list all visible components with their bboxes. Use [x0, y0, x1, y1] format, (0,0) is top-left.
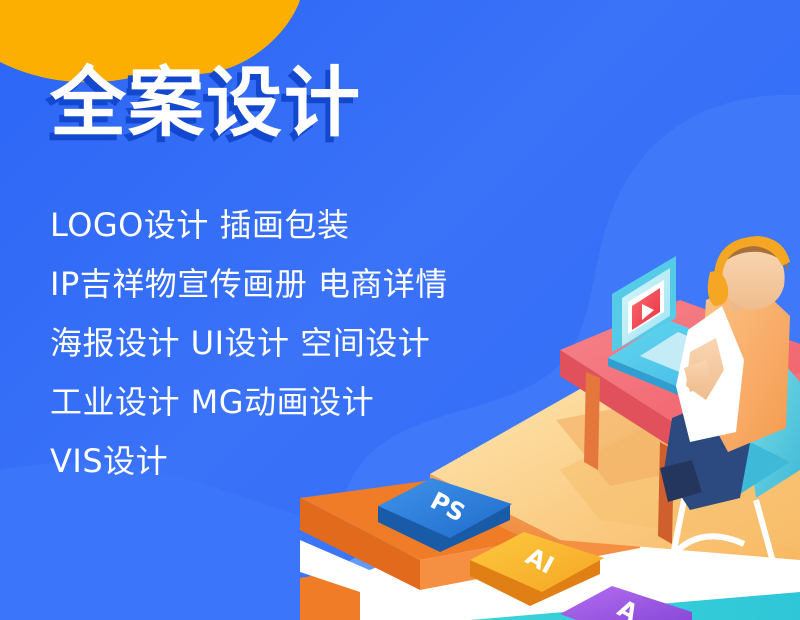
desk-leg-front: [584, 372, 600, 470]
poster-canvas: 全案设计 LOGO设计 插画包装 IP吉祥物宣传画册 电商详情 海报设计 UI设…: [0, 0, 800, 620]
isometric-illustration: PS AI A: [0, 0, 800, 620]
